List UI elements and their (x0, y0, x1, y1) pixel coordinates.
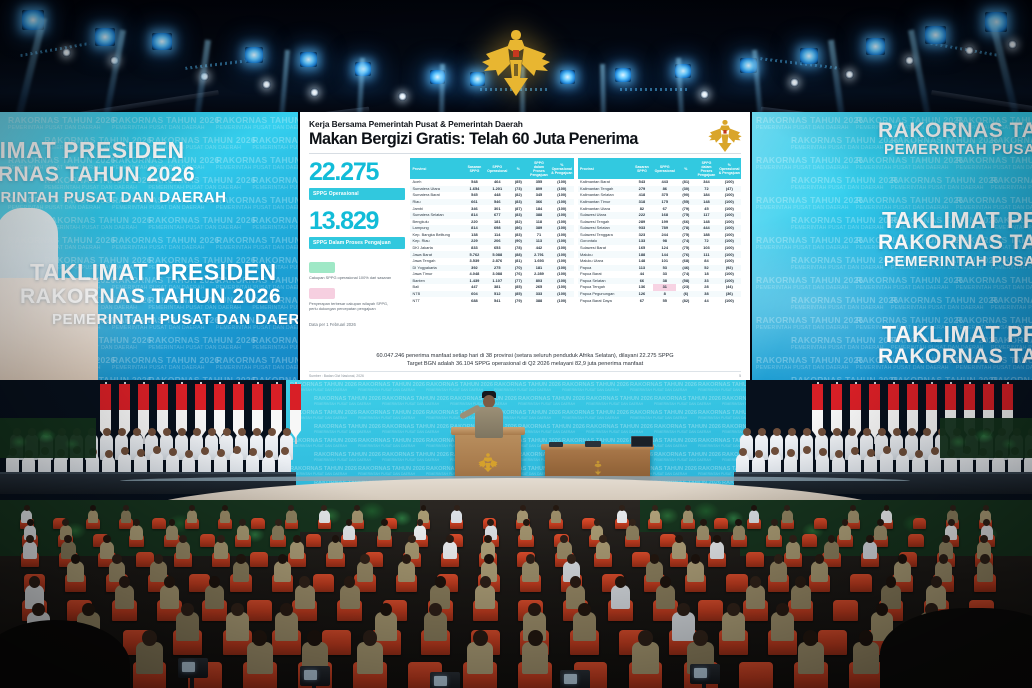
table-cell-province: Kalimantan Utara (578, 205, 631, 212)
table-cell-value: (100) (718, 238, 741, 245)
table-cell-value: 289 (631, 219, 653, 226)
table-row: Kalimantan Timur318175(55)148(100) (578, 199, 742, 206)
audience-attendee-head (803, 630, 818, 646)
audience-attendee (357, 561, 374, 582)
table-cell-value: (100) (550, 238, 573, 245)
table-cell-value: 3.539 (463, 258, 485, 265)
slide-title: Makan Bergizi Gratis: Telah 60 Juta Pene… (309, 131, 741, 148)
audience-attendee-head (570, 576, 581, 588)
table-cell-value: 3.088 (486, 271, 509, 278)
table-cell-value: (100) (718, 179, 741, 186)
table-cell-value: 72 (695, 238, 717, 245)
table-cell-value: (100) (718, 251, 741, 258)
led-tile: RAKORNAS TAHUN 2026PEMERINTAH PUSAT DAN … (216, 356, 298, 372)
table-cell-province: Kep. Bangka Belitung (410, 232, 463, 239)
table-cell-value: 443 (653, 179, 676, 186)
audience-seat (913, 518, 927, 529)
table-cell-value: (100) (718, 219, 741, 226)
audience-attendee (522, 642, 548, 675)
led-tile: RAKORNAS TAHUN 2026PEMERINTAH PUSAT DAN … (252, 336, 298, 352)
kpi-label-pengajuan: SPPG Dalam Proses Pengajuan (309, 237, 405, 249)
table-cell-value: 833 (463, 245, 485, 252)
table-cell-value: 52 (695, 265, 717, 272)
table-cell-value: (100) (550, 258, 573, 265)
table-cell-value: (92) (718, 265, 741, 272)
table-cell-value: 388 (528, 297, 550, 304)
table-row: Lampung814698(86)389(100) (410, 225, 574, 232)
ceiling-lighting-rig (0, 0, 1032, 115)
audience-attendee (722, 612, 745, 640)
audience-attendee (573, 612, 596, 640)
table-cell-value: (82) (509, 192, 528, 199)
table-row: Papua Barat Daya6755(82)44(100) (578, 297, 742, 304)
legend-text-pink: Penyerapan terbesar cakupan wilayah SPPG… (309, 301, 397, 312)
table-row: Jawa Tengah3.5392.876(81)1.693(100) (410, 258, 574, 265)
table-cell-value: 512 (486, 291, 509, 298)
legend-item-pink: Penyerapan terbesar cakupan wilayah SPPG… (309, 288, 405, 312)
conference-hall-photo: RAKORNAS TAHUN 2026PEMERINTAH PUSAT DAN … (0, 0, 1032, 688)
table-col-header: Sasaran SPPG (631, 158, 653, 179)
table-row: Papua11353(46)52(92) (578, 265, 742, 272)
table-row: Kep. Riau229206(90)113(100) (410, 238, 574, 245)
led-tile: RAKORNAS TAHUN 2026PEMERINTAH PUSAT DAN … (216, 236, 298, 252)
audience-seat (200, 534, 216, 547)
table-cell-value: (30) (676, 186, 695, 193)
led-left-banner-line2: RAKORNAS TAHUN 2026 (0, 164, 195, 187)
table-cell-value: 318 (631, 199, 653, 206)
led-tile: RAKORNAS TAHUN 2026PEMERINTAH PUSAT DAN … (956, 156, 1032, 172)
table-header-row-right: ProvinsiSasaran SPPGSPPG Operasional%SPP… (578, 158, 742, 179)
table-cell-value: (100) (550, 278, 573, 285)
audience-attendee-head (32, 603, 45, 616)
led-wall-right: RAKORNAS TAHUN 2026PEMERINTAH PUSAT DAN … (750, 112, 1032, 380)
camera-monitor-screen (304, 670, 317, 680)
audience-attendee (340, 585, 359, 609)
audience-attendee (786, 541, 800, 559)
led-right-banner2-line1: TAKLIMAT PRESIDEN (882, 208, 1032, 233)
audience-attendee-head (435, 576, 446, 588)
table-cell-province: Jambi (410, 205, 463, 212)
table-cell-value: (83) (509, 232, 528, 239)
led-tile: RAKORNAS TAHUN 2026PEMERINTAH PUSAT DAN … (252, 136, 298, 152)
audience-attendee (687, 561, 704, 582)
audience-attendee-head (103, 535, 111, 543)
audience-attendee-head (815, 554, 824, 564)
table-cell-value: 275 (486, 265, 509, 272)
table-cell-value: 184 (695, 192, 717, 199)
led-tile: RAKORNAS TAHUN 2026PEMERINTAH PUSAT DAN … (216, 116, 298, 132)
table-cell-value: 66 (631, 278, 653, 285)
table-row: Kalimantan Selatan418375(90)184(100) (578, 192, 742, 199)
table-cell-province: Papua Selatan (578, 278, 631, 285)
legend-item-green: Cakupan SPPG operasional 100% dari sasar… (309, 262, 405, 281)
table-cell-value: (55) (676, 199, 695, 206)
led-tile: RAKORNAS TAHUN 2026PEMERINTAH PUSAT DAN … (991, 296, 1032, 312)
table-cell-province: Bengkulu (410, 219, 463, 226)
audience-attendee (375, 612, 398, 640)
table-cell-value: 447 (463, 284, 485, 291)
table-cell-value: 184 (528, 205, 550, 212)
led-tile: RAKORNAS TAHUN 2026PEMERINTAH PUSAT DAN … (791, 296, 899, 312)
table-row: NTB604512(85)333(100) (410, 291, 574, 298)
audience-attendee-head (142, 630, 157, 646)
table-row: Sulawesi Utara222168(75)117(100) (578, 212, 742, 219)
audience-attendee (357, 642, 383, 675)
table-cell-value: 126 (631, 291, 653, 298)
table-row: DKI Jakarta833653(78)442(100) (410, 245, 574, 252)
table-cell-value: (85) (509, 179, 528, 186)
audience-attendee-head (859, 630, 874, 646)
table-cell-value: 381 (486, 284, 509, 291)
table-cell-value: 444 (695, 225, 717, 232)
audience-attendee-head (774, 554, 783, 564)
table-cell-value: (46) (676, 265, 695, 272)
audience-attendee-head (278, 554, 287, 564)
table-cell-value: 1.107 (486, 278, 509, 285)
audience-attendee (697, 525, 709, 540)
audience-attendee (520, 525, 532, 540)
table-cell-value: (47) (718, 186, 741, 193)
table-cell-value: (100) (550, 251, 573, 258)
table-cell-value: 148 (695, 219, 717, 226)
audience-attendee-head (429, 603, 442, 616)
audience-attendee (295, 585, 314, 609)
table-cell-value: (73) (509, 186, 528, 193)
table-cell-value: (44) (718, 284, 741, 291)
table-cell-value: 206 (486, 238, 509, 245)
led-tile: RAKORNAS TAHUN 2026PEMERINTAH PUSAT DAN … (756, 116, 864, 132)
table-cell-value: 1.693 (528, 258, 550, 265)
table-cell-value: (100) (550, 291, 573, 298)
table-cell-value: 18 (695, 271, 717, 278)
audience-attendee-head (931, 576, 942, 588)
audience-attendee (424, 612, 447, 640)
table-cell-value: (100) (550, 205, 573, 212)
audience-attendee-head (980, 554, 989, 564)
table-col-header: Provinsi (578, 158, 631, 179)
province-table-right: ProvinsiSasaran SPPGSPPG Operasional%SPP… (578, 158, 742, 304)
audience-seat (698, 600, 723, 621)
table-cell-value: (100) (550, 212, 573, 219)
table-cell-province: Sumatera Utara (410, 186, 463, 193)
audience-attendee (672, 541, 686, 559)
table-cell-value: 38 (695, 291, 717, 298)
audience-attendee-head (181, 603, 194, 616)
audience-attendee-head (528, 630, 543, 646)
audience-attendee (863, 541, 877, 559)
table-cell-value: 28 (695, 284, 717, 291)
table-cell-value: 355 (528, 179, 550, 186)
table-col-header: SPPG dalam Proses Pengajuan (528, 158, 550, 179)
table-cell-value: 148 (631, 258, 653, 265)
table-cell-value: 175 (653, 199, 676, 206)
table-cell-province: Maluku (578, 251, 631, 258)
table-cell-value: 265 (528, 284, 550, 291)
audience-attendee (130, 525, 142, 540)
table-cell-province: Aceh (410, 179, 463, 186)
led-right-banner-line3: PEMERINTAH PUSAT DAN DAERAH (884, 142, 1032, 158)
led-right-banner-line2: RAKORNAS TAHUN 2026 (878, 120, 1032, 143)
table-cell-value: (81) (676, 179, 695, 186)
audience-attendee-head (939, 554, 948, 564)
table-cell-value: 181 (528, 265, 550, 272)
table-cell-value: (100) (718, 278, 741, 285)
table-cell-value: 113 (528, 238, 550, 245)
audience-attendee (67, 561, 84, 582)
audience-attendee-head (693, 630, 708, 646)
table-cell-value: 5.088 (486, 251, 509, 258)
audience-attendee-head (231, 603, 244, 616)
table-cell-value: 323 (631, 232, 653, 239)
table-cell-value: 103 (695, 245, 717, 252)
led-left-banner2-line2: RAKORNAS TAHUN 2026 (20, 286, 281, 309)
audience-attendee (733, 525, 745, 540)
audience-attendee-head (252, 630, 267, 646)
audience-seat (908, 534, 924, 547)
table-cell-value: 4.048 (463, 271, 485, 278)
led-tile: RAKORNAS TAHUN 2026PEMERINTAH PUSAT DAN … (756, 276, 864, 292)
table-cell-value: (90) (509, 238, 528, 245)
table-cell-value: (100) (718, 258, 741, 265)
table-cell-value: (78) (676, 225, 695, 232)
table-cell-value: 1.201 (486, 186, 509, 193)
audience-attendee (596, 541, 610, 559)
table-cell-province: Lampung (410, 225, 463, 232)
table-row: Jawa Timur4.0483.088(76)2.289(100) (410, 271, 574, 278)
main-presentation-screen: Kerja Bersama Pemerintah Pusat & Pemerin… (300, 112, 750, 380)
audience-attendee-head (71, 554, 80, 564)
table-cell-value: (74) (676, 238, 695, 245)
audience-attendee-head (236, 554, 245, 564)
led-tile: RAKORNAS TAHUN 2026PEMERINTAH PUSAT DAN … (856, 156, 964, 172)
audience-attendee (176, 541, 190, 559)
table-row: Sulawesi Tenggara323244(75)188(100) (578, 232, 742, 239)
table-cell-value: 389 (528, 225, 550, 232)
garuda-emblem-slide (708, 118, 742, 154)
table-cell-value: 67 (631, 297, 653, 304)
table-cell-value: 229 (463, 238, 485, 245)
table-cell-value: 2.876 (486, 258, 509, 265)
audience-attendee-head (119, 576, 130, 588)
table-cell-value: (100) (718, 205, 741, 212)
table-row: Papua Pegunungan1268(6)38(36) (578, 291, 742, 298)
led-left-banner-line3: PEMERINTAH PUSAT DAN DAERAH (0, 190, 226, 206)
table-cell-value: 814 (463, 212, 485, 219)
table-cell-value: (75) (676, 245, 695, 252)
province-table-left: ProvinsiSasaran SPPGSPPG Operasional%SPP… (410, 158, 574, 304)
audience-attendee (522, 561, 539, 582)
table-cell-province: Kalimantan Timur (578, 199, 631, 206)
audience-attendee (611, 585, 630, 609)
table-col-header: % Operasional & Pengajuan (718, 158, 741, 179)
audience-attendee (451, 510, 462, 523)
table-cell-value: (100) (550, 297, 573, 304)
table-cell-province: Papua Tengah (578, 284, 631, 291)
audience-attendee (710, 541, 724, 559)
table-row: Sumatera Utara1.6541.201(73)809(100) (410, 186, 574, 193)
slide-page-number: 5 (739, 374, 741, 378)
audience-attendee (272, 525, 284, 540)
table-cell-value: 279 (631, 186, 653, 193)
table-cell-value: 53 (653, 265, 676, 272)
table-cell-value: 244 (653, 232, 676, 239)
table-col-header: Provinsi (410, 158, 463, 179)
table-row: Papua Barat4433(74)18(100) (578, 271, 742, 278)
table-cell-province: Sulawesi Barat (578, 245, 631, 252)
table-cell-value: 133 (631, 238, 653, 245)
table-cell-province: Sulawesi Utara (578, 212, 631, 219)
table-cell-province: Sulawesi Tengah (578, 219, 631, 226)
table-cell-value: 84 (695, 258, 717, 265)
audience-attendee-head (402, 554, 411, 564)
audience-attendee (894, 561, 911, 582)
audience-seat (746, 552, 764, 567)
led-tile: RAKORNAS TAHUN 2026PEMERINTAH PUSAT DAN … (756, 316, 864, 332)
speaker-body (475, 407, 503, 438)
audience-attendee (160, 585, 179, 609)
table-cell-value: 136 (631, 284, 653, 291)
audience-seat (247, 600, 272, 621)
table-cell-value: (81) (509, 258, 528, 265)
table-cell-value: 8 (653, 291, 676, 298)
table-cell-province: Kalimantan Barat (578, 179, 631, 186)
audience-attendee-head (280, 603, 293, 616)
table-cell-value: 677 (486, 212, 509, 219)
audience-attendee-head (473, 630, 488, 646)
desk-monitor (631, 436, 653, 447)
table-cell-value: 114 (486, 232, 509, 239)
legend-text-green: Cakupan SPPG operasional 100% dari sasar… (309, 275, 397, 281)
led-right-banner2-line2: RAKORNAS TAHUN 2026 (878, 232, 1032, 255)
led-tile: RAKORNAS TAHUN 2026PEMERINTAH PUSAT DAN … (148, 216, 256, 232)
audience-attendee (23, 541, 37, 559)
table-cell-province: Kalimantan Tengah (578, 186, 631, 193)
led-tile: RAKORNAS TAHUN 2026PEMERINTAH PUSAT DAN … (991, 176, 1032, 192)
table-cell-value: (86) (509, 225, 528, 232)
table-cell-value: 144 (653, 251, 676, 258)
kpi-value-pengajuan: 13.829 (309, 209, 405, 234)
audience-attendee (798, 642, 824, 675)
led-tile: RAKORNAS TAHUN 2026PEMERINTAH PUSAT DAN … (148, 336, 256, 352)
audience-attendee (121, 510, 132, 523)
audience-attendee (853, 642, 879, 675)
table-cell-province: NTB (410, 291, 463, 298)
led-tile: RAKORNAS TAHUN 2026PEMERINTAH PUSAT DAN … (756, 236, 864, 252)
table-cell-value: 33 (695, 278, 717, 285)
table-row: Banten1.4391.107(77)803(100) (410, 278, 574, 285)
table-cell-province: Bali (410, 284, 463, 291)
led-tile: RAKORNAS TAHUN 2026PEMERINTAH PUSAT DAN … (8, 116, 116, 132)
table-row: Bali447381(85)265(100) (410, 284, 574, 291)
audience-attendee-head (480, 576, 491, 588)
table-cell-value: (90) (676, 192, 695, 199)
table-cell-province: DI Yogyakarta (410, 265, 463, 272)
audience-seat (152, 518, 166, 529)
audience-attendee-head (578, 603, 591, 616)
table-cell-value: 113 (631, 265, 653, 272)
audience-attendee (782, 510, 793, 523)
table-cell-value: 55 (653, 297, 676, 304)
table-row: Jambi346301(87)184(100) (410, 205, 574, 212)
table-cell-value: 448 (486, 192, 509, 199)
camera-tripod (702, 684, 706, 688)
legend-swatch-green (309, 262, 335, 273)
table-cell-value: 45 (695, 205, 717, 212)
table-cell-value: (6) (676, 291, 695, 298)
table-cell-value: 698 (486, 225, 509, 232)
table-cell-value: (78) (509, 245, 528, 252)
table-cell-value: 168 (653, 212, 676, 219)
table-cell-value: (77) (509, 278, 528, 285)
audience-attendee (839, 525, 851, 540)
table-cell-value: 181 (486, 219, 509, 226)
table-row: Sumatera Selatan814677(83)388(100) (410, 212, 574, 219)
audience-attendee (746, 585, 765, 609)
led-tile: RAKORNAS TAHUN 2026PEMERINTAH PUSAT DAN … (756, 356, 864, 372)
slide-footer-line2: Target BGN adalah 36.104 SPPG operasiona… (314, 360, 736, 369)
table-cell-value: (100) (718, 225, 741, 232)
table-row: Jawa Barat5.7625.088(88)2.791(100) (410, 251, 574, 258)
table-cell-value: 124 (653, 245, 676, 252)
table-cell-province: Jawa Tengah (410, 258, 463, 265)
table-cell-value: 548 (463, 179, 485, 186)
table-cell-value: (100) (718, 199, 741, 206)
table-cell-value: 199 (653, 219, 676, 226)
audience-attendee (977, 561, 994, 582)
audience-attendee (683, 510, 694, 523)
table-cell-value: 72 (695, 186, 717, 193)
table-row: Kalimantan Barat543443(81)344(100) (578, 179, 742, 186)
audience-attendee-head (484, 554, 493, 564)
table-row: Sulawesi Tengah289199(66)148(100) (578, 219, 742, 226)
audience-attendee (233, 561, 250, 582)
table-cell-province: Papua (578, 265, 631, 272)
table-row: Bengkulu220181(82)118(100) (410, 219, 574, 226)
table-cell-value: 82 (631, 205, 653, 212)
led-left-banner-line1: TAKLIMAT PRESIDEN (0, 138, 185, 163)
table-cell-value: 546 (486, 199, 509, 206)
table-cell-province: Sumatera Selatan (410, 212, 463, 219)
audience-attendee-head (776, 603, 789, 616)
table-cell-value: (100) (718, 271, 741, 278)
table-cell-province: Maluku Utara (578, 258, 631, 265)
table-cell-value: 464 (486, 179, 509, 186)
audience-attendee (274, 561, 291, 582)
audience-attendee-head (942, 535, 950, 543)
table-cell-value: (100) (718, 232, 741, 239)
audience-attendee (475, 585, 494, 609)
audience-seat (802, 534, 818, 547)
audience-attendee (824, 541, 838, 559)
camera-monitor-screen (694, 668, 707, 678)
audience-attendee (656, 585, 675, 609)
audience-attendee-head (876, 603, 889, 616)
table-row: Kep. Bangka Belitung138114(83)71(100) (410, 232, 574, 239)
table-row: Gorontalo13398(74)72(100) (578, 238, 742, 245)
table-cell-value: (74) (676, 271, 695, 278)
audience-attendee (136, 642, 162, 675)
audience-attendee-head (599, 535, 607, 543)
audience-attendee (319, 510, 330, 523)
table-cell-value: 31 (653, 284, 676, 291)
table-col-header: % (676, 158, 695, 179)
speaker-person (472, 395, 506, 437)
garuda-emblem-desk (591, 460, 605, 475)
audience-attendee (343, 525, 355, 540)
table-row: Papua Selatan6638(58)33(100) (578, 278, 742, 285)
table-cell-value: 543 (631, 179, 653, 186)
table-cell-value: 653 (486, 245, 509, 252)
